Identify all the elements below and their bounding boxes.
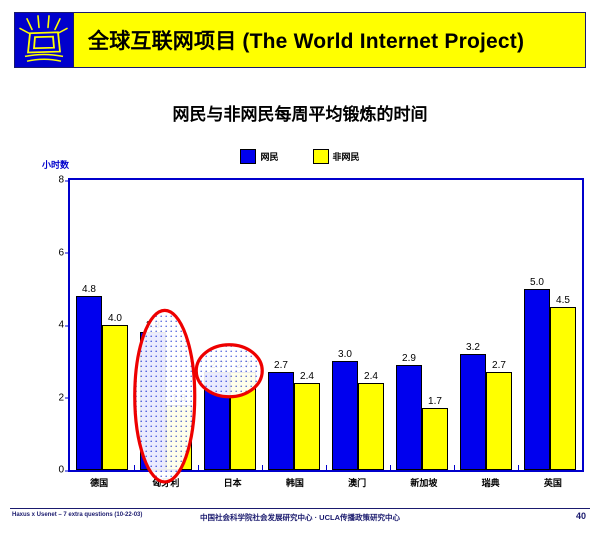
x-axis-label: 韩国: [286, 476, 304, 489]
bar-netizen: 3.2: [460, 354, 486, 470]
bar-value-label: 2.7: [236, 360, 250, 371]
bar-netizen: 2.7: [268, 372, 294, 470]
y-axis-tick: 8: [58, 175, 70, 186]
bar-value-label: 2.7: [274, 360, 288, 371]
bar-netizen: 3.0: [332, 361, 358, 470]
bar-group: 3.22.7: [460, 180, 512, 470]
bar-netizen: 3.8: [140, 332, 166, 470]
x-axis-tick: [326, 465, 327, 471]
footer-divider: [10, 508, 590, 509]
y-axis-tick: 6: [58, 247, 70, 258]
bar-group: 5.04.5: [524, 180, 576, 470]
bar-value-label: 2.4: [364, 371, 378, 382]
x-axis-tick: [390, 465, 391, 471]
bar-non-netizen: 4.0: [102, 325, 128, 470]
bar-group: 2.91.7: [396, 180, 448, 470]
bar-group: 3.02.4: [332, 180, 384, 470]
bar-netizen: 5.0: [524, 289, 550, 470]
x-axis-label: 瑞典: [482, 476, 500, 489]
bar-value-label: 2.7: [492, 360, 506, 371]
x-axis-label: 德国: [90, 476, 108, 489]
bar-non-netizen: 1.8: [166, 405, 192, 470]
plot-area: 02468 4.84.03.81.82.72.72.72.43.02.42.91…: [68, 178, 584, 472]
x-axis-tick: [454, 465, 455, 471]
bar-netizen: 2.7: [204, 372, 230, 470]
bar-value-label: 3.2: [466, 342, 480, 353]
bar-value-label: 3.0: [338, 349, 352, 360]
bar-value-label: 1.8: [172, 393, 186, 404]
x-axis-label: 英国: [544, 476, 562, 489]
bar-non-netizen: 2.4: [358, 383, 384, 470]
bar-value-label: 2.4: [300, 371, 314, 382]
bar-non-netizen: 2.7: [230, 372, 256, 470]
bar-netizen: 2.9: [396, 365, 422, 470]
footer-organizations: 中国社会科学院社会发展研究中心 · UCLA传播政策研究中心: [0, 512, 600, 523]
bar-value-label: 5.0: [530, 277, 544, 288]
x-axis-label: 新加坡: [410, 476, 437, 489]
bar-group: 2.72.4: [268, 180, 320, 470]
y-axis-title: 小时数: [42, 158, 69, 171]
x-axis-label: 日本: [224, 476, 242, 489]
y-axis-tick: 2: [58, 392, 70, 403]
bar-non-netizen: 2.4: [294, 383, 320, 470]
x-axis-tick: [262, 465, 263, 471]
bar-netizen: 4.8: [76, 296, 102, 470]
bar-value-label: 3.8: [146, 320, 160, 331]
x-axis-labels: 德国匈牙利日本韩国澳门新加坡瑞典英国: [68, 476, 584, 489]
bar-value-label: 4.8: [82, 284, 96, 295]
footer-page-number: 40: [576, 511, 586, 521]
x-axis-tick: [134, 465, 135, 471]
bar-non-netizen: 2.7: [486, 372, 512, 470]
bar-non-netizen: 4.5: [550, 307, 576, 470]
bar-group: 3.81.8: [140, 180, 192, 470]
x-axis-tick: [518, 465, 519, 471]
bar-value-label: 4.5: [556, 295, 570, 306]
chart-plot-wrapper: 小时数 02468 4.84.03.81.82.72.72.72.43.02.4…: [0, 0, 600, 540]
bar-group: 2.72.7: [204, 180, 256, 470]
bar-value-label: 4.0: [108, 313, 122, 324]
bar-value-label: 1.7: [428, 396, 442, 407]
bar-value-label: 2.7: [210, 360, 224, 371]
x-axis-label: 匈牙利: [152, 476, 179, 489]
bar-value-label: 2.9: [402, 353, 416, 364]
x-axis-label: 澳门: [348, 476, 366, 489]
bar-group: 4.84.0: [76, 180, 128, 470]
bar-groups: 4.84.03.81.82.72.72.72.43.02.42.91.73.22…: [70, 180, 582, 470]
y-axis-tick: 0: [58, 465, 70, 476]
bar-non-netizen: 1.7: [422, 408, 448, 470]
x-axis-tick: [198, 465, 199, 471]
y-axis-tick: 4: [58, 320, 70, 331]
